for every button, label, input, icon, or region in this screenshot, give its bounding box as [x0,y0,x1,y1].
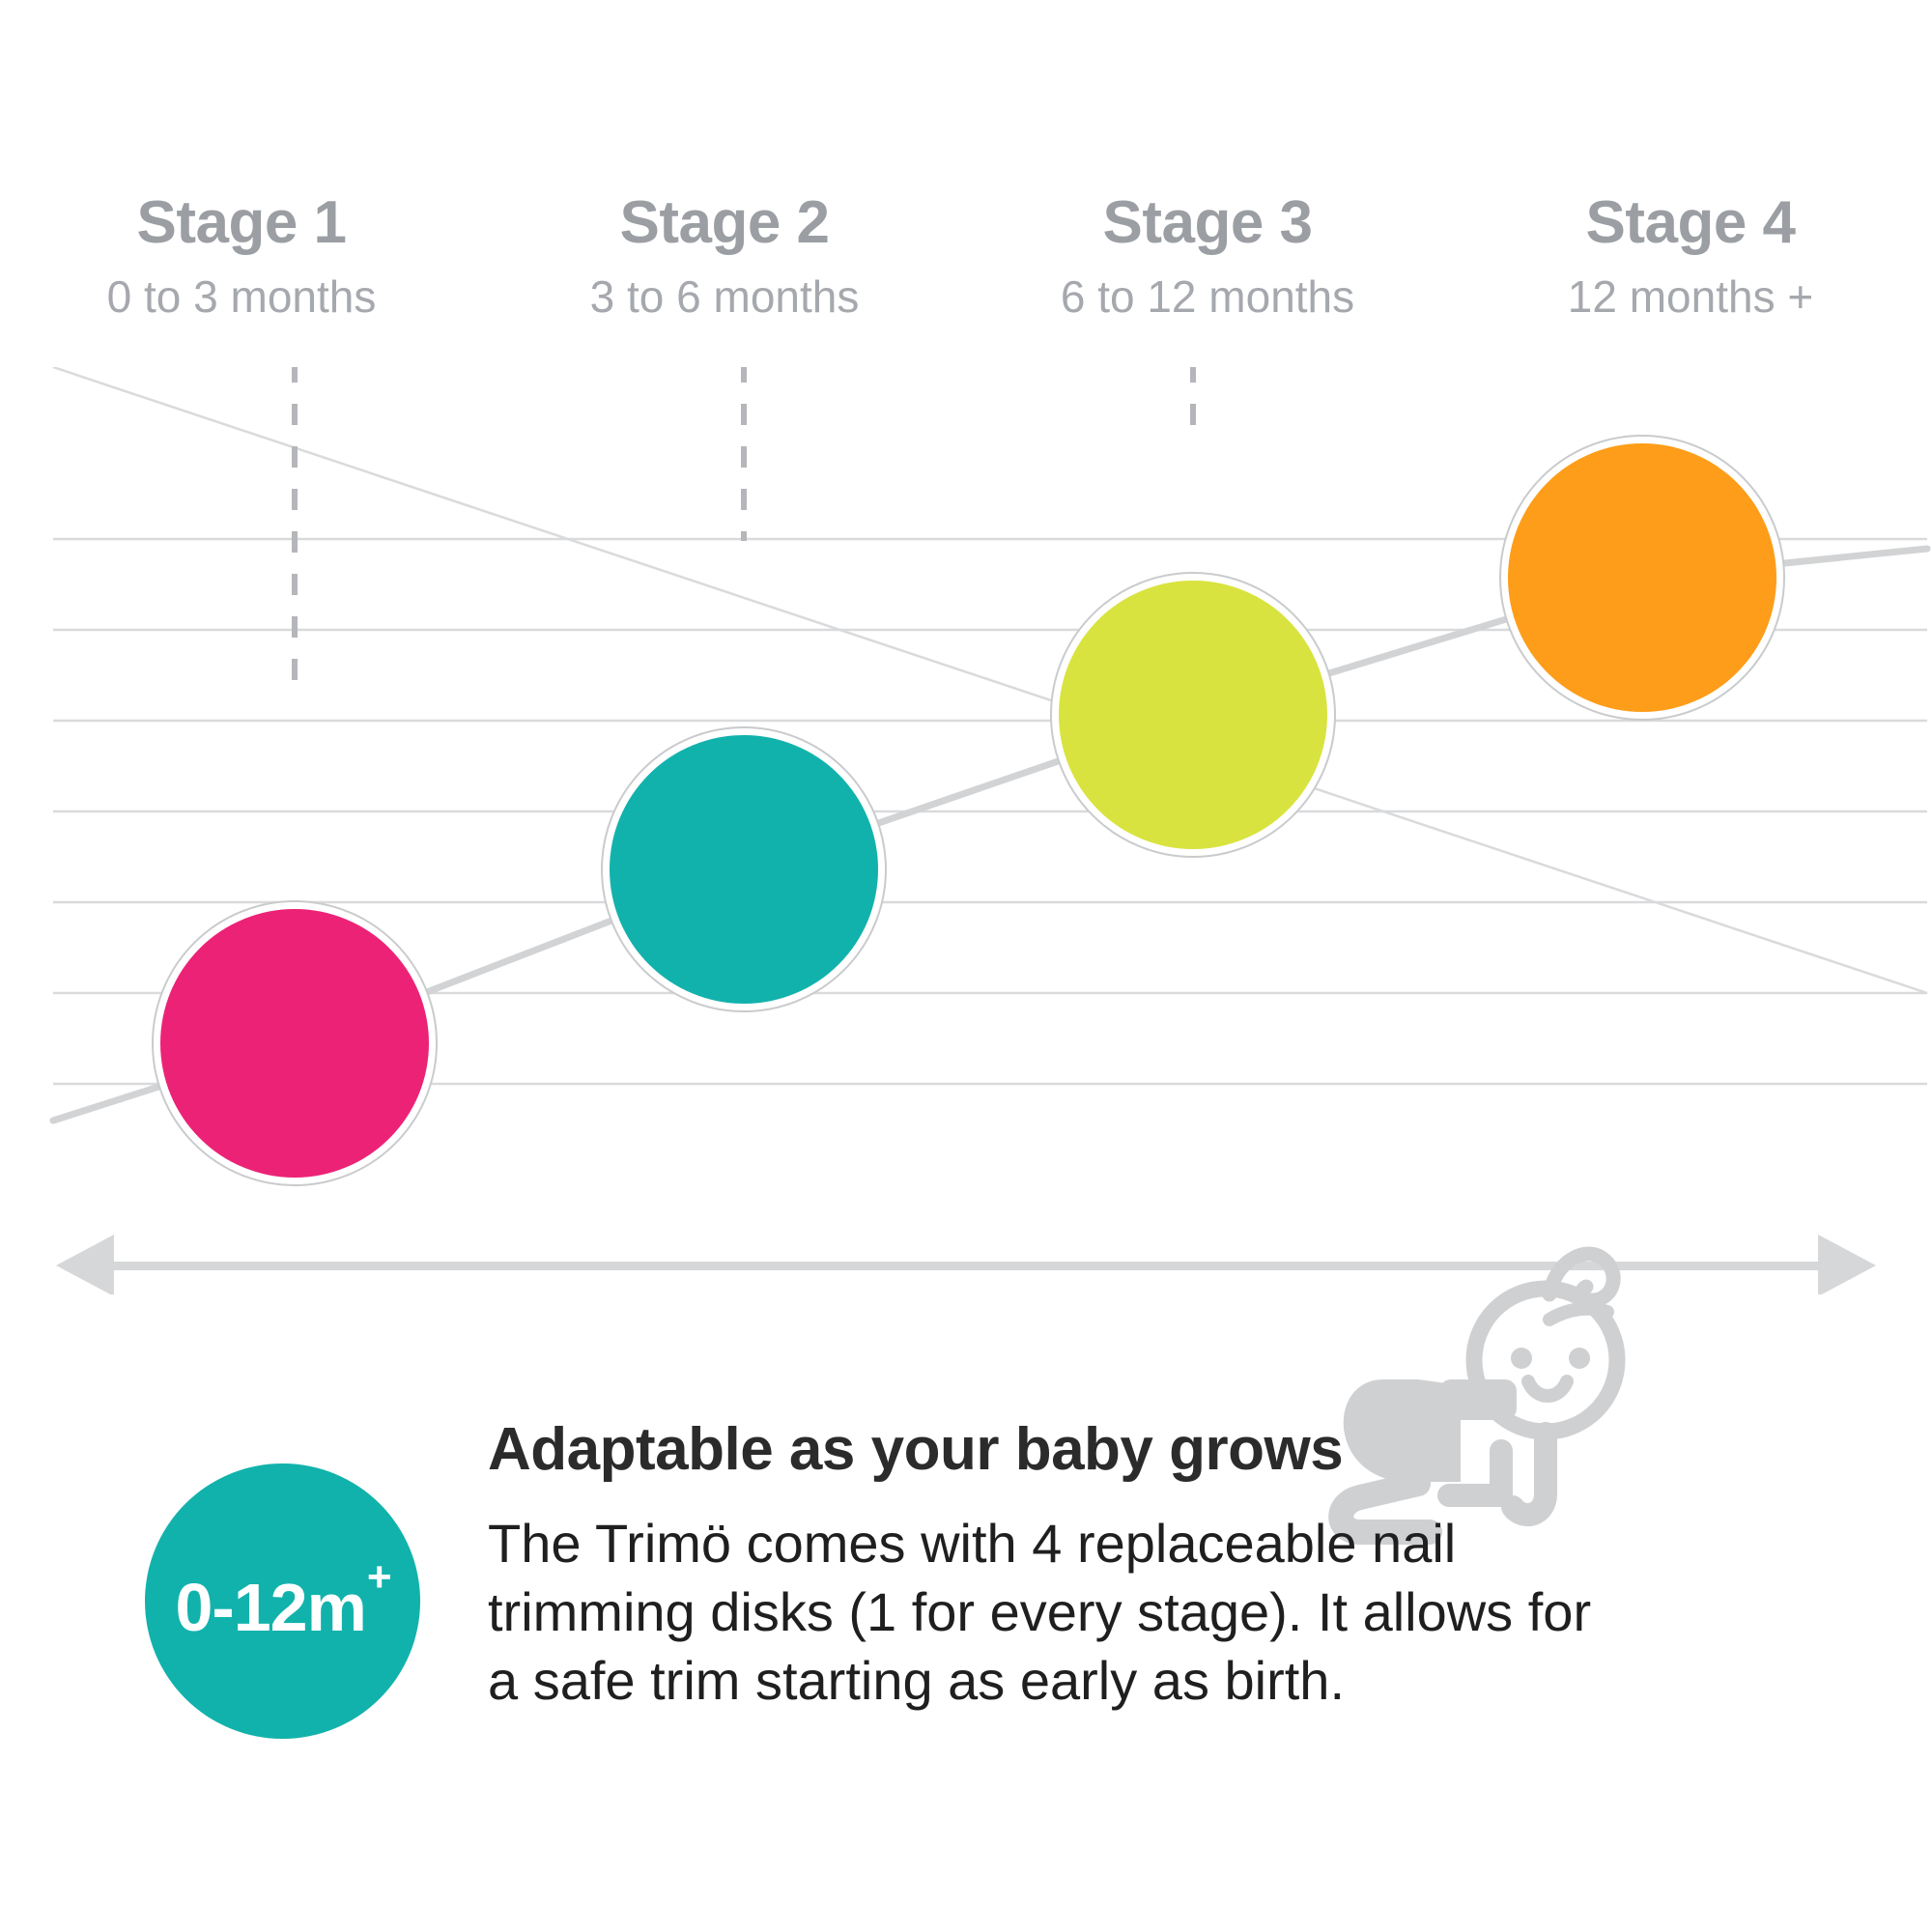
info-heading: Adaptable as your baby grows [488,1420,1860,1480]
stage-subtitle: 12 months + [1449,274,1932,319]
stage-progression-chart [0,367,1932,1294]
info-block: 0-12m+ Adaptable as your baby grows The … [0,1420,1932,1826]
info-body-line: The Trimö comes with 4 replaceable nail [488,1509,1860,1577]
stage-subtitle: 6 to 12 months [966,274,1449,319]
stage-column-1: Stage 1 0 to 3 months [0,193,483,319]
stage-subtitle: 3 to 6 months [483,274,966,319]
stage-column-4: Stage 4 12 months + [1449,193,1932,319]
stage-subtitle: 0 to 3 months [0,274,483,319]
info-text-column: Adaptable as your baby grows The Trimö c… [488,1420,1860,1715]
stage-column-3: Stage 3 6 to 12 months [966,193,1449,319]
info-body: The Trimö comes with 4 replaceable nail … [488,1509,1860,1715]
stage-disk-1[interactable] [160,909,429,1178]
age-range-badge-label: 0-12m+ [175,1574,389,1641]
info-body-line: a safe trim starting as early as birth. [488,1646,1860,1715]
stage-header-row: Stage 1 0 to 3 months Stage 2 3 to 6 mon… [0,193,1932,377]
stage-title: Stage 3 [966,193,1449,253]
stage-column-2: Stage 2 3 to 6 months [483,193,966,319]
info-body-line: trimming disks (1 for every stage). It a… [488,1577,1860,1646]
stage-title: Stage 1 [0,193,483,253]
stage-disk-3[interactable] [1059,581,1327,849]
stage-disk-4[interactable] [1508,443,1776,712]
stage-title: Stage 2 [483,193,966,253]
age-range-badge-superscript: + [367,1553,391,1601]
age-range-badge: 0-12m+ [145,1463,420,1739]
stage-disk-2[interactable] [610,735,878,1004]
stage-title: Stage 4 [1449,193,1932,253]
